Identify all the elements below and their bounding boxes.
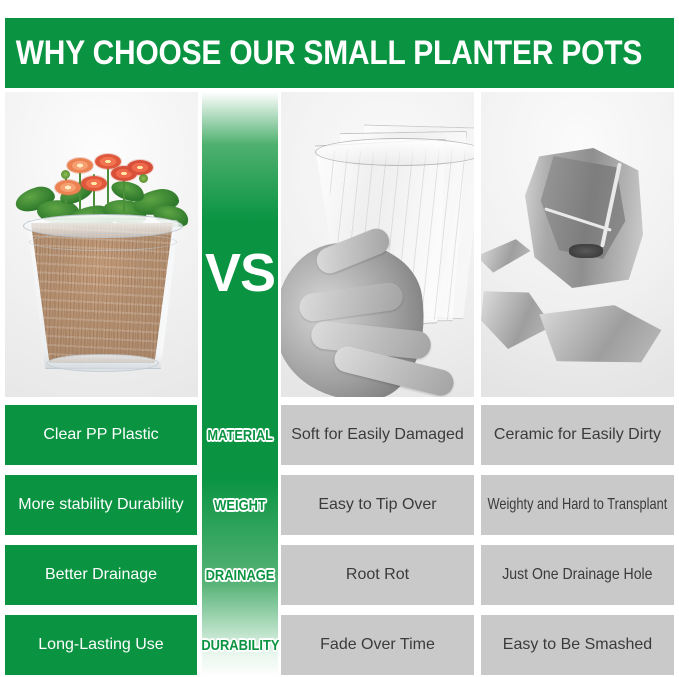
attribute-badge: DRAINAGE	[206, 568, 275, 583]
debris	[569, 244, 603, 258]
photo-hand-squeezing-flimsy-clear-cups	[281, 92, 474, 397]
comparison-table: Clear PP Plastic MATERIAL Soft for Easil…	[0, 402, 679, 677]
photo-smashed-gray-ceramic-pot	[481, 92, 674, 397]
cell-attribute: MATERIAL	[202, 405, 278, 465]
shard-scene	[481, 92, 674, 397]
cups-scene	[281, 92, 474, 397]
ceramic-shard	[481, 237, 533, 276]
cell-alternative-1: Easy to Tip Over	[281, 475, 474, 535]
ceramic-shard	[531, 300, 663, 369]
attribute-badge: MATERIAL	[207, 428, 273, 443]
attribute-badge: DURABILITY	[201, 638, 279, 653]
cell-alternative-1: Soft for Easily Damaged	[281, 405, 474, 465]
table-row: Better Drainage DRAINAGE Root Rot Just O…	[0, 545, 679, 605]
cell-alternative-2: Ceramic for Easily Dirty	[481, 405, 674, 465]
table-row: Clear PP Plastic MATERIAL Soft for Easil…	[0, 405, 679, 465]
cell-attribute: DURABILITY	[202, 615, 278, 675]
cell-attribute: DRAINAGE	[202, 545, 278, 605]
photo-strip	[0, 92, 679, 397]
cup-lip	[315, 138, 474, 166]
table-row: More stability Durability WEIGHT Easy to…	[0, 475, 679, 535]
cell-ours: Clear PP Plastic	[5, 405, 197, 465]
pot-scene	[5, 92, 198, 397]
cell-ours: Better Drainage	[5, 545, 197, 605]
infographic-page: WHY CHOOSE OUR SMALL PLANTER POTS ?	[0, 0, 679, 677]
page-title: WHY CHOOSE OUR SMALL PLANTER POTS	[16, 36, 642, 70]
cell-alternative-2: Easy to Be Smashed	[481, 615, 674, 675]
table-row: Long-Lasting Use DURABILITY Fade Over Ti…	[0, 615, 679, 675]
cell-ours: More stability Durability	[5, 475, 197, 535]
vs-label: VS	[202, 243, 278, 303]
photo-clear-plastic-pot-with-flowers	[5, 92, 198, 397]
cell-ours: Long-Lasting Use	[5, 615, 197, 675]
pot-base	[47, 354, 159, 372]
pot-inner-rim	[29, 233, 177, 251]
cell-alternative-1: Root Rot	[281, 545, 474, 605]
cell-attribute: WEIGHT	[202, 475, 278, 535]
cell-alternative-1: Fade Over Time	[281, 615, 474, 675]
cell-alternative-2: Weighty and Hard to Transplant	[481, 475, 674, 535]
attribute-badge: WEIGHT	[214, 498, 266, 513]
header-banner: WHY CHOOSE OUR SMALL PLANTER POTS ?	[5, 18, 674, 88]
cell-alternative-2: Just One Drainage Hole	[481, 545, 674, 605]
